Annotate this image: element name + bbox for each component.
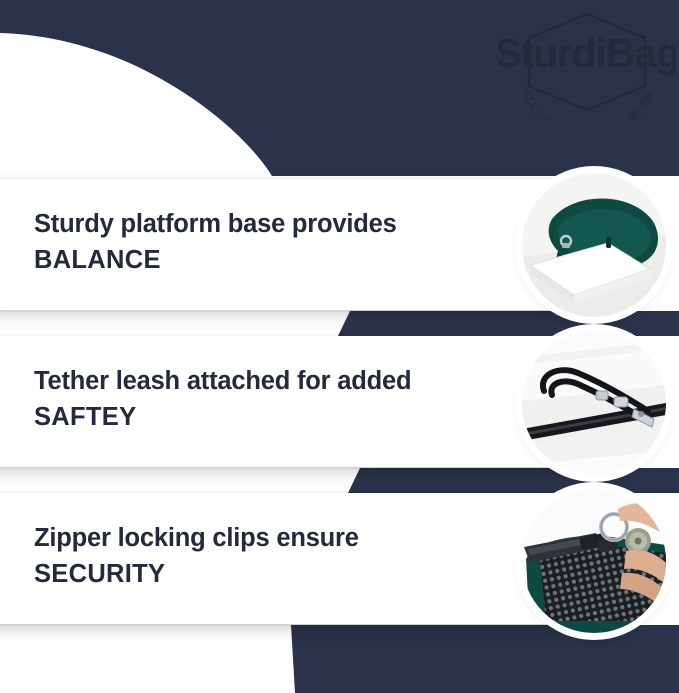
feature-headline-1: Sturdy platform base provides xyxy=(34,210,397,238)
navy-shape-strip-upper xyxy=(338,311,679,336)
brand-name-text: SturdiBag xyxy=(498,30,676,76)
navy-shape-strip-lower xyxy=(348,468,679,493)
platform-base-thumbnail xyxy=(522,173,666,317)
feature-keyword-3: SECURITY xyxy=(34,556,489,592)
feature-text-1: Sturdy platform base provides BALANCE xyxy=(34,206,489,278)
feature-headline-2: Tether leash attached for added xyxy=(34,367,411,395)
feature-headline-3: Zipper locking clips ensure xyxy=(34,524,359,552)
feature-text-3: Zipper locking clips ensure SECURITY xyxy=(34,520,489,592)
tether-leash-thumbnail xyxy=(522,331,666,475)
feature-keyword-1: BALANCE xyxy=(34,242,489,278)
zipper-clips-thumbnail xyxy=(522,489,666,633)
feature-keyword-2: SAFTEY xyxy=(34,399,489,435)
brand-logo: SturdiBag FLEX-HEIGHT PET CARRIER xyxy=(498,8,676,120)
product-feature-poster: SturdiBag FLEX-HEIGHT PET CARRIER Sturdy… xyxy=(0,0,679,693)
navy-shape-bottom xyxy=(291,625,679,693)
feature-text-2: Tether leash attached for added SAFTEY xyxy=(34,363,489,435)
brand-tagline-text: FLEX-HEIGHT PET CARRIER xyxy=(520,89,656,120)
